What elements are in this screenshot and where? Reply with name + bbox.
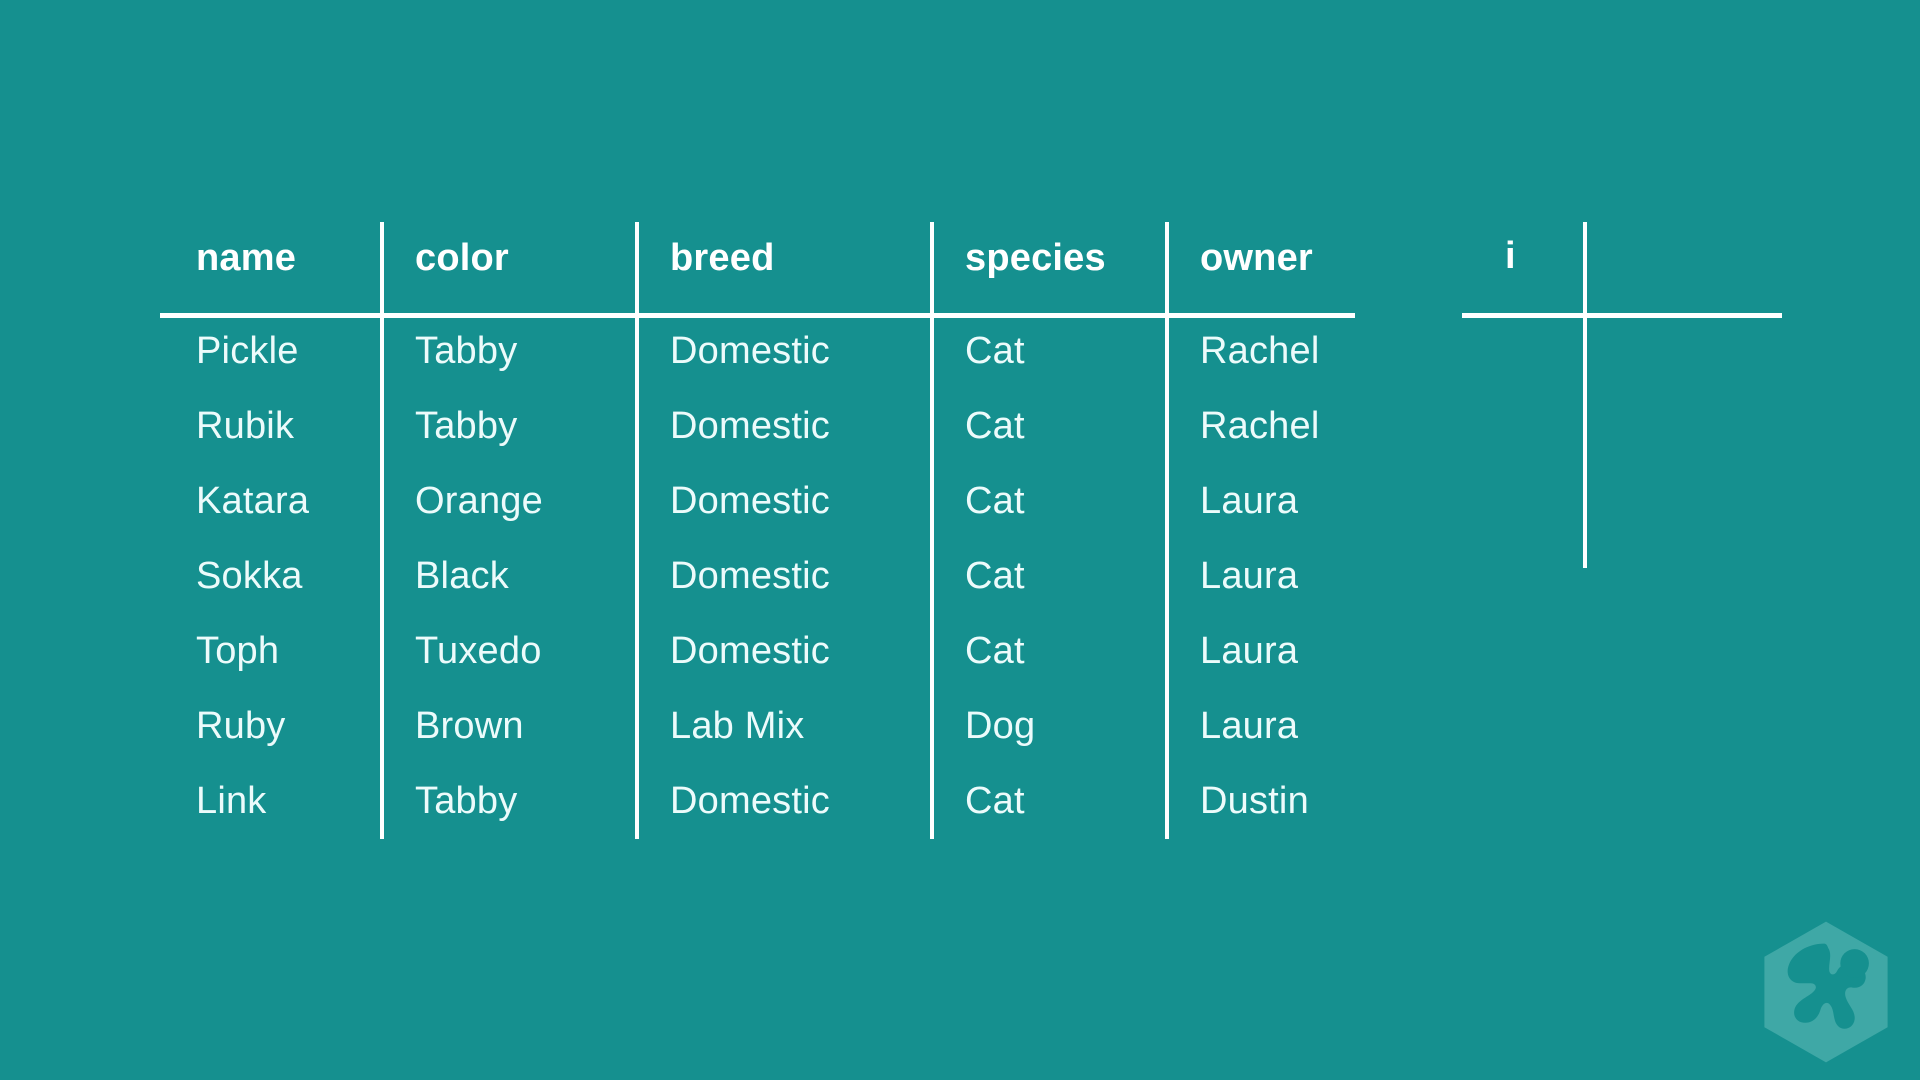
cell-name-text: Sokka [196, 555, 303, 598]
extra-header-underline [1462, 313, 1782, 318]
column-header-color-label: color [415, 237, 509, 280]
cell-species-text: Cat [965, 480, 1025, 523]
cell-color-text: Black [415, 555, 509, 598]
cell-color-text: Tabby [415, 330, 517, 373]
cell-owner: Laura [1165, 614, 1405, 689]
cell-species: Cat [930, 614, 1165, 689]
cell-owner: Rachel [1165, 314, 1405, 389]
cell-name-text: Rubik [196, 405, 294, 448]
cell-owner-text: Laura [1200, 555, 1298, 598]
cell-color-text: Orange [415, 480, 543, 523]
cell-species-text: Cat [965, 780, 1025, 823]
cell-color: Tuxedo [380, 614, 635, 689]
cell-name-text: Link [196, 780, 267, 823]
column-header-owner-label: owner [1200, 237, 1313, 280]
cell-owner: Laura [1165, 539, 1405, 614]
cell-name-text: Katara [196, 480, 309, 523]
cell-owner-text: Rachel [1200, 330, 1320, 373]
cell-owner: Laura [1165, 464, 1405, 539]
cell-name-text: Ruby [196, 705, 286, 748]
cell-breed: Lab Mix [635, 689, 930, 764]
table-row[interactable]: Sokka Black Domestic Cat Laura [160, 539, 1405, 614]
column-header-name-label: name [196, 237, 296, 280]
header-underline [160, 313, 1355, 318]
cell-name: Link [160, 764, 380, 839]
cell-owner: Rachel [1165, 389, 1405, 464]
cell-color-text: Tuxedo [415, 630, 542, 673]
cell-species-text: Cat [965, 405, 1025, 448]
cell-breed-text: Domestic [670, 330, 830, 373]
column-header-name[interactable]: name [160, 222, 380, 314]
cell-species-text: Cat [965, 330, 1025, 373]
table-row[interactable]: Ruby Brown Lab Mix Dog Laura [160, 689, 1405, 764]
cell-species: Cat [930, 539, 1165, 614]
cell-color: Brown [380, 689, 635, 764]
extra-column-divider [1583, 222, 1587, 568]
table-row[interactable]: Rubik Tabby Domestic Cat Rachel [160, 389, 1405, 464]
table-body: Pickle Tabby Domestic Cat Rachel Rubik T… [160, 314, 1405, 839]
cell-species: Dog [930, 689, 1165, 764]
pets-table: name color breed species owner Pickle Ta… [0, 0, 1920, 1080]
cell-color: Tabby [380, 389, 635, 464]
table-row[interactable]: Katara Orange Domestic Cat Laura [160, 464, 1405, 539]
cell-breed: Domestic [635, 389, 930, 464]
cell-breed: Domestic [635, 464, 930, 539]
cell-color-text: Tabby [415, 780, 517, 823]
cell-species: Cat [930, 464, 1165, 539]
table-row[interactable]: Link Tabby Domestic Cat Dustin [160, 764, 1405, 839]
cell-species-text: Dog [965, 705, 1035, 748]
table-row[interactable]: Pickle Tabby Domestic Cat Rachel [160, 314, 1405, 389]
cell-name: Sokka [160, 539, 380, 614]
cell-breed: Domestic [635, 539, 930, 614]
column-header-breed[interactable]: breed [635, 222, 930, 314]
cell-name: Rubik [160, 389, 380, 464]
column-header-species-label: species [965, 237, 1106, 280]
cell-color: Tabby [380, 764, 635, 839]
cell-breed-text: Domestic [670, 405, 830, 448]
cell-name: Katara [160, 464, 380, 539]
cell-breed: Domestic [635, 314, 930, 389]
cell-species: Cat [930, 764, 1165, 839]
cell-owner-text: Laura [1200, 630, 1298, 673]
cell-name: Ruby [160, 689, 380, 764]
cell-owner-text: Dustin [1200, 780, 1309, 823]
cell-color-text: Brown [415, 705, 524, 748]
cell-breed-text: Domestic [670, 555, 830, 598]
cell-breed: Domestic [635, 614, 930, 689]
cell-breed-text: Domestic [670, 630, 830, 673]
cell-breed-text: Domestic [670, 780, 830, 823]
column-header-breed-label: breed [670, 237, 774, 280]
cell-name-text: Pickle [196, 330, 299, 373]
cell-species: Cat [930, 314, 1165, 389]
cell-breed: Domestic [635, 764, 930, 839]
table-header-row: name color breed species owner [160, 222, 1405, 314]
cell-owner: Dustin [1165, 764, 1405, 839]
cell-color: Black [380, 539, 635, 614]
cell-name-text: Toph [196, 630, 279, 673]
column-header-color[interactable]: color [380, 222, 635, 314]
cell-color: Tabby [380, 314, 635, 389]
cell-owner-text: Rachel [1200, 405, 1320, 448]
cell-name: Pickle [160, 314, 380, 389]
cell-owner-text: Laura [1200, 705, 1298, 748]
cell-name: Toph [160, 614, 380, 689]
cell-breed-text: Lab Mix [670, 705, 804, 748]
cell-breed-text: Domestic [670, 480, 830, 523]
cell-species-text: Cat [965, 630, 1025, 673]
cell-species-text: Cat [965, 555, 1025, 598]
cell-color-text: Tabby [415, 405, 517, 448]
cell-species: Cat [930, 389, 1165, 464]
column-header-species[interactable]: species [930, 222, 1165, 314]
column-header-owner[interactable]: owner [1165, 222, 1405, 314]
cell-owner: Laura [1165, 689, 1405, 764]
cell-color: Orange [380, 464, 635, 539]
cell-owner-text: Laura [1200, 480, 1298, 523]
table-row[interactable]: Toph Tuxedo Domestic Cat Laura [160, 614, 1405, 689]
column-header-extra[interactable]: i [1505, 237, 1516, 275]
